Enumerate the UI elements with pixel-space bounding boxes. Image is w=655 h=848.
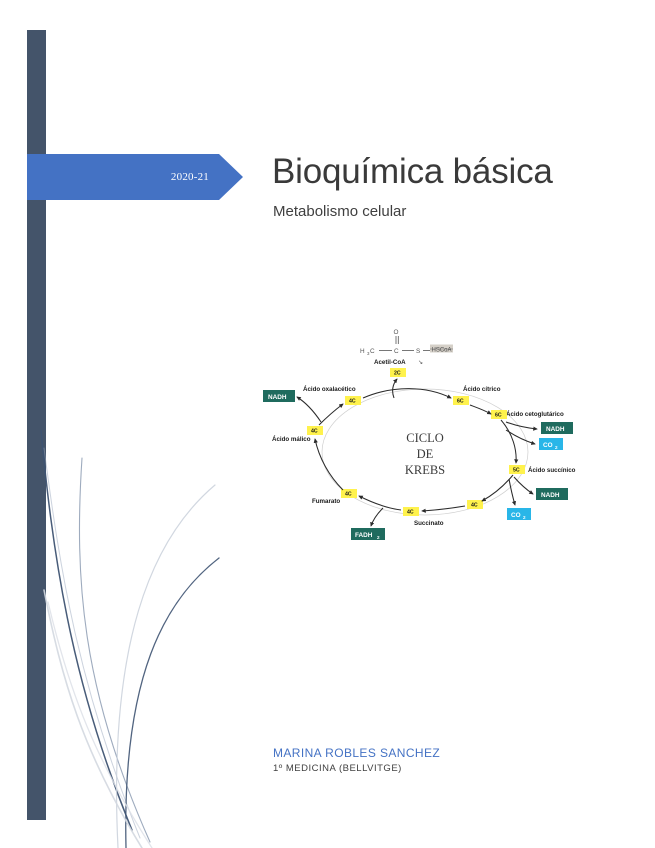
author-detail: 1º MEDICINA (BELLVITGE) bbox=[273, 763, 402, 774]
svg-text:2: 2 bbox=[523, 515, 526, 520]
label-fumarato: Fumarato bbox=[312, 498, 340, 505]
year-banner: 2020-21 bbox=[27, 154, 243, 200]
arrow-fumarato-to-malico bbox=[315, 439, 343, 490]
label-acido-citrico: Ácido cítrico bbox=[463, 386, 501, 393]
node-citrico: 6C bbox=[453, 396, 469, 405]
product-co2-succinico: CO 2 bbox=[507, 508, 531, 520]
node-cetoglutarico: 6C bbox=[491, 410, 507, 419]
product-fadh2: FADH 2 bbox=[351, 528, 385, 540]
svg-text:4C: 4C bbox=[471, 503, 478, 509]
arrow-succinato-to-fumarato bbox=[359, 496, 401, 510]
arrow-ceto-to-co2 bbox=[506, 430, 535, 444]
svg-text:6C: 6C bbox=[495, 413, 502, 419]
arrow-acetilcoa-in bbox=[393, 379, 397, 398]
year-banner-label: 2020-21 bbox=[171, 171, 209, 183]
arrow-succinico-to-nadh bbox=[514, 477, 533, 494]
node-succinico: 5C bbox=[509, 465, 525, 474]
molecule-oxygen: O bbox=[394, 329, 399, 336]
label-acido-malico: Ácido málico bbox=[272, 436, 311, 443]
svg-text:5C: 5C bbox=[513, 468, 520, 474]
svg-text:2: 2 bbox=[377, 535, 380, 540]
node-malico: 4C bbox=[307, 426, 323, 435]
figure-center-line-1: CICLO bbox=[406, 431, 444, 445]
page-subtitle: Metabolismo celular bbox=[273, 203, 406, 220]
product-nadh-cetoglutarico: NADH bbox=[541, 422, 573, 434]
arrow-ceto-to-nadh bbox=[506, 422, 537, 429]
svg-text:2: 2 bbox=[555, 445, 558, 450]
svg-text:4C: 4C bbox=[311, 429, 318, 435]
figure-center-line-3: KREBS bbox=[405, 463, 445, 477]
arrow-citrico-to-ceto bbox=[470, 405, 491, 414]
document-cover-page: 2020-21 Bioquímica básica Metabolismo ce… bbox=[0, 0, 655, 848]
label-acetil-coa: Acetil-CoA bbox=[374, 359, 406, 366]
svg-text:CO: CO bbox=[543, 442, 553, 449]
product-nadh-label: NADH bbox=[546, 426, 565, 433]
molecule-hscoa: HSCoA bbox=[432, 348, 452, 354]
svg-text:6C: 6C bbox=[457, 399, 464, 405]
svg-text:4C: 4C bbox=[349, 399, 356, 405]
svg-text:C: C bbox=[370, 348, 375, 355]
svg-text:4C: 4C bbox=[345, 492, 352, 498]
svg-text:↘: ↘ bbox=[418, 360, 423, 366]
node-succinato: 4C bbox=[403, 507, 419, 516]
label-acido-oxalacetico: Ácido oxalacético bbox=[303, 386, 356, 393]
arrow-to-fadh2 bbox=[371, 508, 383, 526]
svg-text:NADH: NADH bbox=[268, 394, 287, 401]
label-acido-cetoglutarico: Ácido cetoglutárico bbox=[506, 411, 564, 418]
molecule-carbon: C bbox=[394, 348, 399, 355]
product-nadh-malico: NADH bbox=[263, 390, 295, 402]
acetyl-coa-structure: H 3 C C S O HSCoA Acetil-CoA ↘ bbox=[360, 329, 453, 366]
carbon-badge-2c-label: 2C bbox=[394, 371, 401, 377]
node-4c-right: 4C bbox=[467, 500, 483, 509]
product-co2-cetoglutarico: CO 2 bbox=[539, 438, 563, 450]
svg-text:FADH: FADH bbox=[355, 532, 373, 539]
label-acido-succinico: Ácido succínico bbox=[528, 467, 576, 474]
left-accent-bar bbox=[27, 30, 46, 820]
svg-text:4C: 4C bbox=[407, 510, 414, 516]
figure-center-line-2: DE bbox=[417, 447, 434, 461]
molecule-formula-h3c: H bbox=[360, 348, 365, 355]
svg-text:CO: CO bbox=[511, 512, 521, 519]
page-title: Bioquímica básica bbox=[272, 152, 553, 192]
node-oxalacetico: 4C bbox=[345, 396, 361, 405]
arrow-succinico-to-co2 bbox=[509, 479, 515, 505]
molecule-sulfur: S bbox=[416, 348, 420, 355]
arrow-4c-to-succinato bbox=[422, 506, 465, 511]
svg-text:NADH: NADH bbox=[541, 492, 560, 499]
arrow-malico-to-oxa bbox=[319, 404, 343, 425]
arrow-malico-to-nadh bbox=[297, 397, 321, 422]
author-name: MARINA ROBLES SANCHEZ bbox=[273, 746, 440, 760]
arrow-ceto-to-succinico bbox=[501, 420, 516, 463]
krebs-cycle-diagram: H 3 C C S O HSCoA Acetil-CoA ↘ bbox=[263, 322, 593, 550]
node-acetil-coa: 2C bbox=[390, 368, 406, 377]
product-nadh-succinico: NADH bbox=[536, 488, 568, 500]
node-fumarato: 4C bbox=[341, 489, 357, 498]
label-succinato: Succinato bbox=[414, 520, 444, 527]
